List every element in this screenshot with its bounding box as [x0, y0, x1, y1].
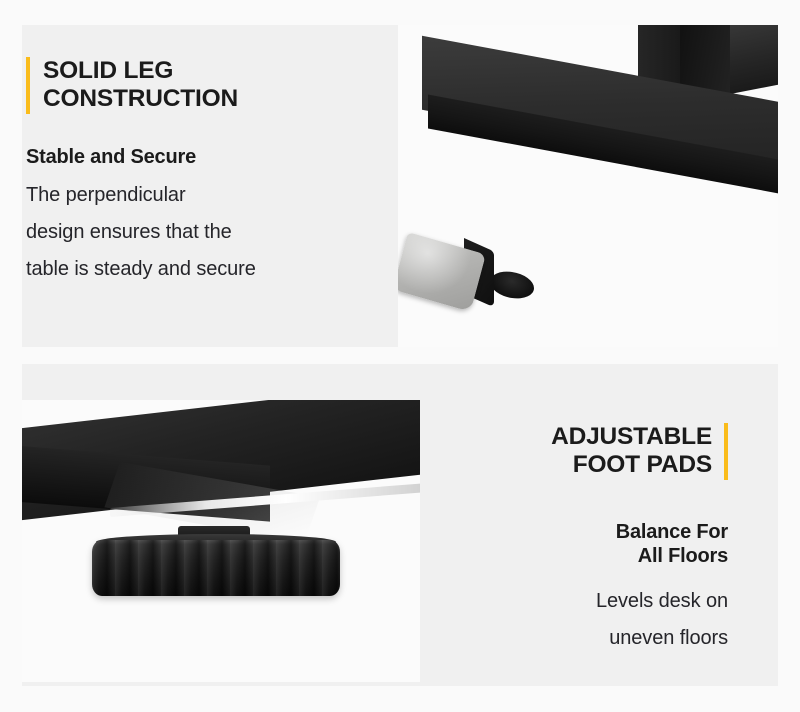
adjustable-foot-pads-text: ADJUSTABLE FOOT PADS Balance For All Flo… [352, 423, 728, 657]
panel-body-text: Levels desk on uneven floors [352, 583, 728, 657]
solid-leg-construction-text: SOLID LEG CONSTRUCTION Stable and Secure… [26, 57, 396, 288]
accent-bar-icon [26, 57, 30, 114]
product-feature-page: SOLID LEG CONSTRUCTION Stable and Secure… [0, 0, 800, 712]
accent-bar-icon [724, 423, 728, 480]
desk-leg-base-photo [398, 25, 778, 347]
panel-body-text: The perpendicular design ensures that th… [26, 177, 396, 288]
feature-panel-adjustable-foot-pads: ADJUSTABLE FOOT PADS Balance For All Flo… [22, 364, 778, 686]
foot-pad-knurled-disc [92, 540, 340, 596]
foot-pad-ridges [92, 540, 340, 596]
panel-subheading: Balance For All Floors [352, 520, 728, 569]
heading-row: ADJUSTABLE FOOT PADS [352, 423, 728, 480]
panel-heading: ADJUSTABLE FOOT PADS [551, 423, 712, 480]
panel-heading: SOLID LEG CONSTRUCTION [43, 57, 238, 114]
heading-row: SOLID LEG CONSTRUCTION [26, 57, 396, 114]
panel-subheading: Stable and Secure [26, 145, 396, 169]
